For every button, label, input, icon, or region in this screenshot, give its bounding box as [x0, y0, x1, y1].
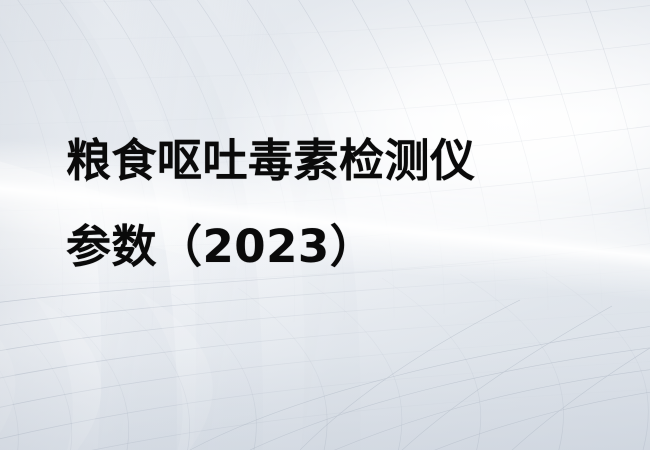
title-banner: 粮食呕吐毒素检测仪 参数（2023） [0, 0, 650, 450]
title-block: 粮食呕吐毒素检测仪 参数（2023） [66, 118, 586, 290]
title-line-2: 参数（2023） [66, 204, 586, 290]
title-line-1: 粮食呕吐毒素检测仪 [66, 118, 586, 204]
